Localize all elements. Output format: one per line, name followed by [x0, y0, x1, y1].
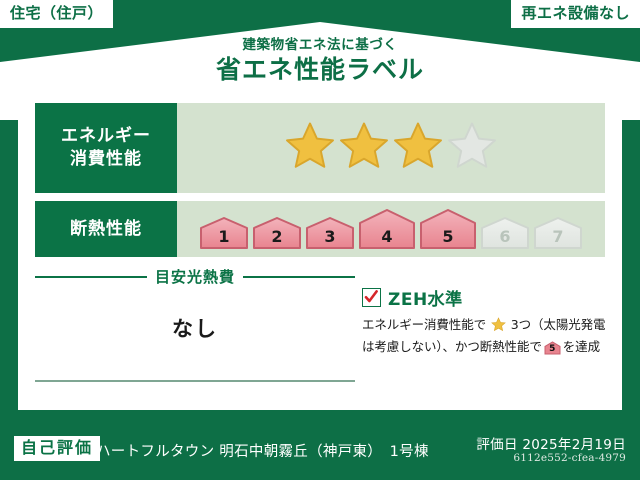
- insulation-performance-value: 1234567: [177, 201, 605, 257]
- zeh-description: エネルギー消費性能で 3つ（太陽光発電 は考慮しない）、かつ断熱性能で 5 を達…: [362, 315, 612, 357]
- utility-cost-section: 目安光熱費 なし: [35, 266, 355, 343]
- insulation-grade-value: 7: [533, 229, 583, 245]
- insulation-grade-badge: 3: [305, 216, 355, 250]
- divider-left: [35, 276, 147, 278]
- property-name: ハートフルタウン 明石中朝霧丘（神戸東） 1号棟: [96, 440, 429, 461]
- check-icon: [364, 289, 379, 305]
- energy-performance-label: 住宅（住戸） 再エネ設備なし 建築物省エネ法に基づく 省エネ性能ラベル エネルギ…: [0, 0, 640, 480]
- zeh-section: ZEH水準 エネルギー消費性能で 3つ（太陽光発電 は考慮しない）、かつ断熱性能…: [362, 285, 612, 357]
- inline-star-icon: [487, 320, 510, 335]
- energy-label-line1: エネルギー: [61, 125, 151, 148]
- insulation-grade-badge: 6: [480, 216, 530, 250]
- utility-cost-header: 目安光熱費: [35, 266, 355, 287]
- energy-performance-row: エネルギー 消費性能: [35, 103, 605, 193]
- insulation-grade-value: 5: [419, 229, 477, 245]
- inline-grade-value: 5: [544, 345, 561, 354]
- zeh-desc-part3: を達成: [563, 339, 600, 354]
- energy-performance-value: [177, 103, 605, 193]
- insulation-grade-value: 4: [358, 229, 416, 245]
- energy-label-line2: 消費性能: [70, 148, 142, 171]
- insulation-grade-badge: 1: [199, 216, 249, 250]
- utility-cost-title: 目安光熱費: [155, 266, 235, 287]
- evaluation-id: 6112e552-cfea-4979: [513, 452, 626, 464]
- label-footer: 自己評価 ハートフルタウン 明石中朝霧丘（神戸東） 1号棟 評価日 2025年2…: [0, 410, 640, 480]
- utility-cost-underline: [35, 380, 355, 382]
- insulation-label-text: 断熱性能: [70, 218, 142, 241]
- main-panel: エネルギー 消費性能 断熱性能 1234567 目安光熱費 なし: [18, 88, 622, 410]
- insulation-grade-badge: 5: [419, 208, 477, 250]
- utility-cost-value: なし: [35, 313, 355, 343]
- insulation-performance-row: 断熱性能 1234567: [35, 201, 605, 257]
- divider-right: [243, 276, 355, 278]
- zeh-desc-stars: 3つ（太陽光発電: [511, 317, 606, 332]
- badge-renewable-energy: 再エネ設備なし: [511, 0, 640, 28]
- zeh-title: ZEH水準: [388, 285, 463, 310]
- badge-renewable-energy-label: 再エネ設備なし: [521, 4, 630, 22]
- badge-building-type: 住宅（住戸）: [0, 0, 113, 28]
- insulation-grade-badge: 7: [533, 216, 583, 250]
- star-rating: [284, 120, 498, 176]
- insulation-grade-value: 3: [305, 229, 355, 245]
- insulation-grade-value: 1: [199, 229, 249, 245]
- zeh-desc-part1: エネルギー消費性能で: [362, 317, 486, 332]
- insulation-grade-badge: 4: [358, 208, 416, 250]
- zeh-checkbox[interactable]: [362, 288, 381, 307]
- insulation-performance-label: 断熱性能: [35, 201, 177, 257]
- star-filled-icon: [338, 120, 390, 176]
- star-empty-icon: [446, 120, 498, 176]
- star-filled-icon: [284, 120, 336, 176]
- insulation-grade-scale: 1234567: [199, 208, 583, 250]
- self-evaluation-badge: 自己評価: [14, 436, 100, 461]
- star-filled-icon: [392, 120, 444, 176]
- zeh-header: ZEH水準: [362, 285, 612, 310]
- insulation-grade-badge: 2: [252, 216, 302, 250]
- evaluation-date: 評価日 2025年2月19日: [476, 433, 626, 453]
- insulation-grade-value: 6: [480, 229, 530, 245]
- inline-grade-badge: 5: [544, 341, 561, 355]
- energy-performance-label: エネルギー 消費性能: [35, 103, 177, 193]
- zeh-desc-part2: は考慮しない）、かつ断熱性能で: [362, 339, 542, 354]
- insulation-grade-value: 2: [252, 229, 302, 245]
- badge-building-type-label: 住宅（住戸）: [10, 4, 103, 22]
